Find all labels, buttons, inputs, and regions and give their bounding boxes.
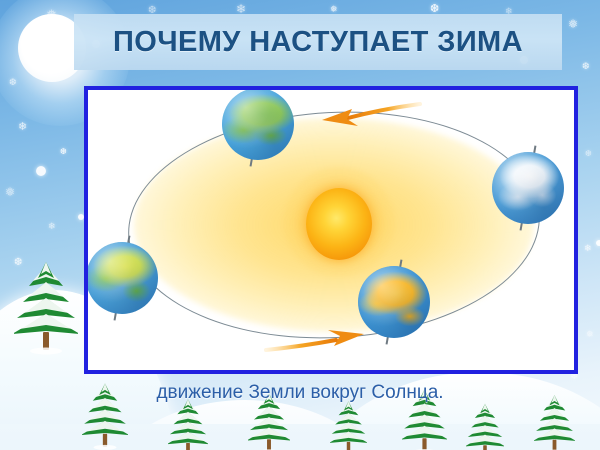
- snowflake-icon: ❆: [20, 428, 27, 436]
- fir-tree-icon: [168, 398, 208, 450]
- diagram-frame: [84, 86, 578, 374]
- orbit-arrow-top-icon: [312, 98, 422, 138]
- globe-shading: [86, 242, 158, 314]
- snowflake-icon: ❄: [64, 404, 72, 414]
- snowflake-icon: ❄: [18, 122, 27, 133]
- snowflake-icon: ❅: [568, 18, 578, 30]
- globe-shading: [492, 152, 564, 224]
- snow-dot: [262, 424, 268, 430]
- slide-caption: движение Земли вокруг Солнца.: [0, 382, 600, 404]
- snowflake-icon: ❆: [9, 78, 17, 87]
- snowflake-icon: ❅: [330, 5, 338, 14]
- snow-dot: [430, 408, 436, 414]
- fir-tree-icon: [14, 260, 78, 356]
- winter-lesson-slide: ❅❆❄❆❅❄❆❄❅❆❄❆❆❄❅❆❄❅❆❄❆❅❄❆❅❄❆❄❆❅ ПОЧЕМУ НА…: [0, 0, 600, 450]
- snowflake-icon: ❅: [460, 418, 467, 426]
- snowflake-icon: ❄: [584, 244, 592, 253]
- snowflake-icon: ❄: [57, 292, 64, 300]
- snowflake-icon: ❅: [31, 332, 40, 343]
- fir-tree-icon: [330, 400, 367, 450]
- snowflake-icon: ❅: [46, 8, 57, 21]
- snowflake-icon: ❄: [48, 222, 56, 231]
- earth-top: [222, 88, 294, 160]
- earth-globe: [222, 88, 294, 160]
- snow-dot: [150, 438, 158, 446]
- snowflake-icon: ❆: [14, 258, 22, 268]
- snowflake-icon: ❄: [300, 412, 307, 420]
- earth-globe: [492, 152, 564, 224]
- orbit-arrow-bottom-icon: [264, 328, 374, 368]
- orbit-diagram: [88, 90, 574, 370]
- snow-dot: [44, 316, 50, 322]
- earth-globe: [86, 242, 158, 314]
- snow-dot: [36, 166, 46, 176]
- page-title: ПОЧЕМУ НАСТУПАЕТ ЗИМА: [113, 26, 523, 59]
- earth-left: [86, 242, 158, 314]
- snowflake-icon: ❆: [60, 148, 67, 156]
- globe-shading: [222, 88, 294, 160]
- sun-sphere: [306, 188, 372, 260]
- fir-tree-icon: [466, 402, 504, 450]
- snowflake-icon: ❅: [5, 186, 15, 198]
- snow-dot: [196, 418, 202, 424]
- title-band: ПОЧЕМУ НАСТУПАЕТ ЗИМА: [74, 14, 562, 70]
- snowflake-icon: ❆: [585, 150, 592, 158]
- snow-ground: [0, 424, 600, 450]
- snowflake-icon: ❅: [586, 330, 594, 339]
- snow-dot: [352, 430, 360, 438]
- snow-hill-middle: [95, 400, 395, 450]
- snowflake-icon: ❆: [582, 62, 590, 71]
- snow-dot: [596, 240, 600, 246]
- earth-right: [492, 152, 564, 224]
- snowflake-icon: ❆: [6, 368, 14, 377]
